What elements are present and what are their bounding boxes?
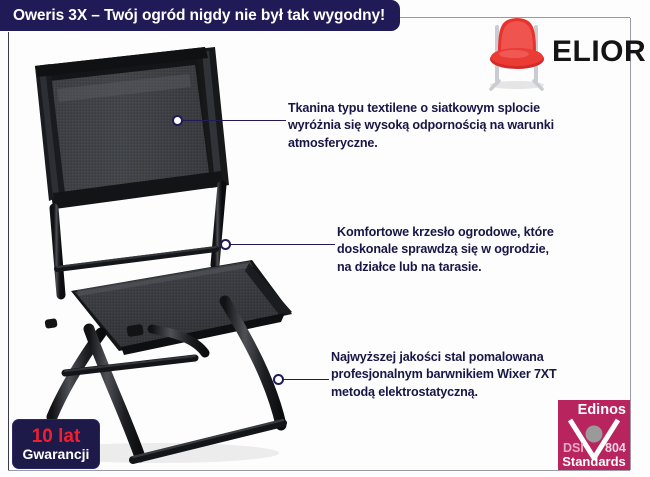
brand-logo: ELIOR xyxy=(486,13,626,93)
header-banner: Oweris 3X – Twój ogród nigdy nie był tak… xyxy=(0,0,400,31)
frame-bottom-border xyxy=(8,470,630,471)
callout-comfort-marker xyxy=(220,239,231,250)
callout-comfort-line-2: doskonale sprawdzą się w ogrodzie, xyxy=(337,241,637,258)
callout-fabric-text: Tkanina typu textilene o siatkowym sploc… xyxy=(288,100,638,152)
callout-comfort-text: Komfortowe krzesło ogrodowe, które dosko… xyxy=(337,224,637,276)
product-photo xyxy=(9,33,309,470)
brand-name: ELIOR xyxy=(552,37,646,67)
red-chair-icon xyxy=(486,13,548,91)
warranty-badge: 10 lat Gwarancji xyxy=(12,419,100,469)
callout-steel-line-1: Najwyższej jakości stal pomalowana xyxy=(331,349,641,366)
callout-steel-leader xyxy=(283,379,329,380)
callout-steel-text: Najwyższej jakości stal pomalowana profe… xyxy=(331,349,641,401)
callout-steel-line-3: metodą elektrostatyczną. xyxy=(331,384,641,401)
callout-fabric-line-3: atmosferyczne. xyxy=(288,135,638,152)
callout-comfort-leader xyxy=(230,244,335,245)
callout-fabric-line-2: wyróżnia się wysoką odpornością na warun… xyxy=(288,117,638,134)
warranty-years: 10 lat xyxy=(32,427,81,446)
certificate-left-code: DSI xyxy=(563,442,584,455)
infographic-canvas: Oweris 3X – Twój ogród nigdy nie był tak… xyxy=(0,0,650,477)
callout-fabric-marker xyxy=(172,115,183,126)
certificate-badge: Edinos DSI 804 Standards xyxy=(558,400,630,470)
certificate-title: Edinos xyxy=(558,403,630,418)
callout-steel-marker xyxy=(273,374,284,385)
callout-fabric-line-1: Tkanina typu textilene o siatkowym sploc… xyxy=(288,100,638,117)
certificate-right-code: 804 xyxy=(605,442,626,455)
callout-comfort-line-1: Komfortowe krzesło ogrodowe, które xyxy=(337,224,637,241)
page-title: Oweris 3X – Twój ogród nigdy nie był tak… xyxy=(0,7,385,25)
callout-comfort-line-3: na działce lub na tarasie. xyxy=(337,259,637,276)
warranty-label: Gwarancji xyxy=(23,447,90,461)
callout-steel-line-2: profesjonalnym barwnikiem Wixer 7XT xyxy=(331,366,641,383)
callout-fabric-leader xyxy=(182,120,286,121)
certificate-subtitle: Standards xyxy=(558,455,630,468)
